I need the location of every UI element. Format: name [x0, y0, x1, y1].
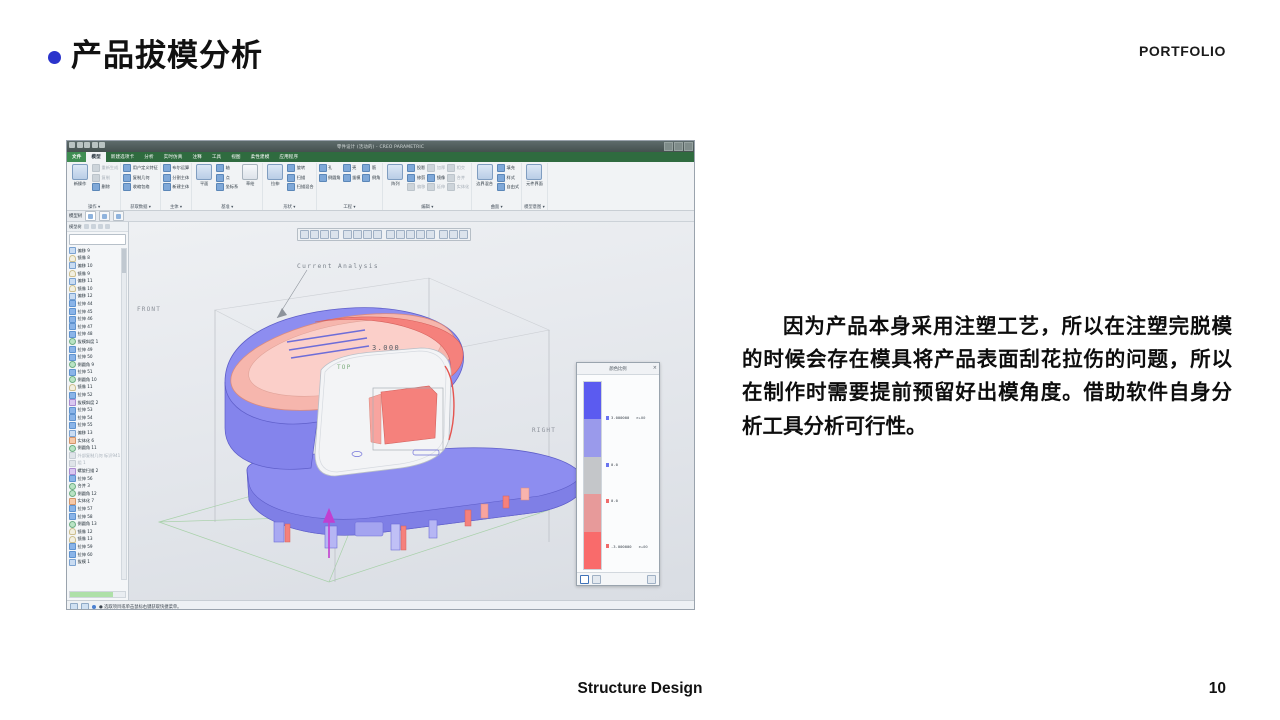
ribbon-item-icon [163, 183, 171, 191]
ribbon-item-icon [427, 164, 435, 172]
ribbon-item-icon [123, 174, 131, 182]
ribbon-group-6: 阵列投影修剪偏移加厚镜像延伸相交合并实体化编辑 ▾ [383, 163, 472, 210]
subbar-chip-2[interactable] [113, 211, 124, 221]
ribbon-item-icon [92, 174, 100, 182]
model-tree-panel-label: 模型树 [69, 213, 82, 219]
ribbon-item-label: 孔 [328, 165, 332, 171]
ribbon-button-边界混合[interactable]: 边界混合 [474, 164, 495, 187]
ribbon-item-icon [163, 164, 171, 172]
ribbon-item-加厚[interactable]: 加厚 [427, 164, 445, 172]
color-scale-tick-2[interactable]: 0.0 [606, 498, 625, 503]
viewport-float-toolbar[interactable] [297, 228, 471, 241]
ribbon-item-icon [497, 174, 505, 182]
ribbon-button-label: 草绘 [246, 181, 254, 187]
ribbon-tab-8[interactable]: 柔性建模 [246, 152, 275, 162]
tree-item[interactable]: 拉伸 55 [69, 422, 128, 430]
ribbon-item-投影[interactable]: 投影 [407, 164, 425, 172]
ribbon-item-icon [163, 174, 171, 182]
ribbon-item-label: 坐标系 [226, 184, 239, 190]
color-scale-tick-3[interactable]: -3.000000e+00 [606, 544, 648, 549]
tree-item-label: 拔模 1 [78, 559, 90, 565]
tick-value: 0.0 [611, 462, 618, 467]
tree-item-label: 倒圆角 13 [78, 521, 97, 527]
ribbon-item-icon [287, 164, 295, 172]
model-intent-icon [526, 164, 542, 180]
tree-item-label: 拉伸 44 [78, 301, 93, 307]
model-tree-subbar[interactable]: 模型树 [67, 211, 694, 222]
ribbon-item-icon [216, 174, 224, 182]
ribbon-item-实体化[interactable]: 实体化 [447, 183, 469, 191]
ribbon-item-壳[interactable]: 壳 [343, 164, 361, 172]
ribbon-item-label: 扫描 [297, 175, 305, 181]
tree-item[interactable]: 倒圆角 11 [69, 444, 128, 452]
tree-scrollbar[interactable] [121, 248, 127, 580]
color-scale-titlebar: 颜色比例 × [577, 363, 659, 375]
ribbon-item-icon [92, 164, 100, 172]
tree-item-label: 倒圆角 9 [78, 362, 95, 368]
tick-suffix: e+00 [636, 415, 645, 420]
tree-item-label: 螺旋扫描 2 [78, 468, 99, 474]
slide: 产品拔模分析 PORTFOLIO 因为产品本身采用注塑工艺，所以在注塑完脱模的时… [0, 0, 1280, 720]
ribbon-item-icon [407, 183, 415, 191]
zoom-in-icon[interactable] [300, 230, 309, 239]
tree-item[interactable]: 外部复制几何 标识941 [69, 452, 128, 460]
ribbon-group-0: 新操作重新生成复制删除操作 ▾ [68, 163, 121, 210]
datum-display-icon[interactable] [416, 230, 425, 239]
tree-item[interactable]: 倒圆角 9 [69, 361, 128, 369]
close-icon[interactable] [684, 142, 693, 151]
tree-item[interactable]: 拉伸 57 [69, 505, 128, 513]
ribbon-item-倒角[interactable]: 倒角 [362, 174, 380, 182]
ribbon-item-icon [287, 174, 295, 182]
ribbon-item-icon [427, 183, 435, 191]
tree-item-label: 拉伸 60 [78, 552, 93, 558]
ribbon-item-复制几何[interactable]: 复制几何 [123, 174, 158, 182]
ribbon-button-阵列[interactable]: 阵列 [385, 164, 405, 187]
feature-icon [69, 338, 76, 345]
tree-item[interactable]: 拉伸 48 [69, 331, 128, 339]
ribbon-tab-2[interactable]: 新建选项卡 [106, 152, 139, 162]
ribbon-item-icon [216, 183, 224, 191]
feature-icon [69, 354, 76, 361]
status-message: ● 选取项目或单击鼠标右键获取快捷菜单。 [99, 604, 181, 610]
ribbon-item-自由式[interactable]: 自由式 [497, 183, 519, 191]
tree-item-label: 偏移 9 [78, 248, 90, 254]
maximize-icon[interactable] [674, 142, 683, 151]
ribbon-item-偏移[interactable]: 偏移 [407, 183, 425, 191]
tree-item[interactable]: 拉伸 46 [69, 315, 128, 323]
ribbon-item-label: 复制几何 [133, 175, 150, 181]
ribbon-item-label: 延伸 [437, 184, 445, 190]
page-number: 10 [1209, 680, 1226, 698]
extrude-icon [267, 164, 283, 180]
ribbon-group-label[interactable]: 编辑 ▾ [385, 203, 469, 210]
tree-item[interactable]: 拉伸 60 [69, 551, 128, 559]
feature-icon [69, 247, 76, 254]
ribbon-item-布尔运算[interactable]: 布尔运算 [163, 164, 189, 172]
ribbon-item-分割主体[interactable]: 分割主体 [163, 174, 189, 182]
ribbon-item-相交[interactable]: 相交 [447, 164, 469, 172]
graphics-viewport[interactable]: Current Analysis FRONT TOP RIGHT 3.000 颜… [129, 222, 694, 600]
portfolio-label: PORTFOLIO [1139, 43, 1226, 59]
ribbon-tab-6[interactable]: 工具 [207, 152, 226, 162]
feature-icon [69, 422, 76, 429]
status-dot-icon [92, 605, 96, 609]
tree-item[interactable]: 组 1 [69, 460, 128, 468]
minimize-icon[interactable] [664, 142, 673, 151]
ribbon-tab-4[interactable]: 实时仿真 [159, 152, 188, 162]
status-select-icon[interactable] [70, 603, 78, 610]
quick-access-toolbar[interactable] [69, 142, 105, 148]
operations-icon [72, 164, 88, 180]
ribbon-group-1: 用户定义特征复制几何收缩包络获取数据 ▾ [121, 163, 161, 210]
feature-icon [69, 376, 76, 383]
toolbar-separator [383, 231, 385, 238]
ribbon-item-icon [343, 164, 351, 172]
feature-icon [69, 384, 76, 391]
tick-value: 3.000000 [611, 415, 629, 420]
tree-item-label: 拉伸 46 [78, 316, 93, 322]
feature-icon [69, 543, 76, 550]
ribbon-item-label: 删除 [102, 184, 110, 190]
ribbon-item-label: 壳 [352, 165, 356, 171]
ribbon-item-label: 用户定义特征 [133, 165, 158, 171]
feature-icon [69, 323, 76, 330]
ribbon-item-icon [92, 183, 100, 191]
status-filter-icon[interactable] [81, 603, 89, 610]
ribbon-button-新操作[interactable]: 新操作 [70, 164, 90, 187]
ribbon-tab-0[interactable]: 文件 [67, 152, 86, 162]
tree-item[interactable]: 拉伸 53 [69, 406, 128, 414]
ribbon-body[interactable]: 新操作重新生成复制删除操作 ▾用户定义特征复制几何收缩包络获取数据 ▾布尔运算分… [67, 162, 694, 211]
ribbon-item-延伸[interactable]: 延伸 [427, 183, 445, 191]
feature-icon [69, 255, 76, 262]
ribbon-item-用户定义特征[interactable]: 用户定义特征 [123, 164, 158, 172]
ribbon-button-草绘[interactable]: 草绘 [240, 164, 260, 187]
ribbon-item-icon [447, 174, 455, 182]
ribbon-group-label[interactable]: 操作 ▾ [70, 203, 118, 210]
tree-item-label: 镜像 9 [78, 271, 90, 277]
tree-item-label: 偏移 12 [78, 293, 93, 299]
feature-icon [69, 293, 76, 300]
ribbon-item-旋转[interactable]: 旋转 [287, 164, 313, 172]
tree-item[interactable]: 偏移 10 [69, 262, 128, 270]
ribbon-button-label: 边界混合 [476, 181, 493, 187]
tree-item-label: 合并 3 [78, 483, 90, 489]
repaint-icon[interactable] [343, 230, 352, 239]
ribbon-item-label: 点 [226, 175, 230, 181]
ribbon-item-label: 偏移 [417, 184, 425, 190]
subbar-chip-1[interactable] [99, 211, 110, 221]
tree-settings-icon[interactable] [98, 224, 103, 229]
tree-item[interactable]: 偏移 9 [69, 247, 128, 255]
tree-item-label: 偏移 10 [78, 263, 93, 269]
open-icon[interactable] [77, 142, 83, 148]
ribbon-button-平面[interactable]: 平面 [194, 164, 214, 187]
ribbon-item-点[interactable]: 点 [216, 174, 238, 182]
annotation-display-icon[interactable] [426, 230, 435, 239]
tree-item-label: 镜像 8 [78, 255, 90, 261]
feature-icon [69, 331, 76, 338]
ribbon-item-镜像[interactable]: 镜像 [427, 174, 445, 182]
ribbon-group-label[interactable]: 获取数据 ▾ [123, 203, 158, 210]
ribbon-group-label[interactable]: 工程 ▾ [319, 203, 381, 210]
ribbon-button-元件界面[interactable]: 元件界面 [524, 164, 545, 187]
feature-icon [69, 430, 76, 437]
ribbon-item-轴[interactable]: 轴 [216, 164, 238, 172]
wireframe-icon[interactable] [353, 230, 362, 239]
refit-icon[interactable] [320, 230, 329, 239]
feature-icon [69, 521, 76, 528]
shading-icon[interactable] [373, 230, 382, 239]
ribbon-item-复制[interactable]: 复制 [92, 174, 118, 182]
subbar-chip-0[interactable] [85, 211, 96, 221]
datum-plane-icon [196, 164, 212, 180]
body-paragraph: 因为产品本身采用注塑工艺，所以在注塑完脱模的时候会存在模具将产品表面刮花拉伤的问… [742, 310, 1232, 443]
color-scale-body: 3.000000e+000.00.0-3.000000e+00 [577, 375, 659, 572]
ribbon-item-重新生成[interactable]: 重新生成 [92, 164, 118, 172]
ribbon-group-label[interactable]: 模型意图 ▾ [524, 203, 545, 210]
feature-icon [69, 278, 76, 285]
feature-icon [69, 361, 76, 368]
feature-icon [69, 551, 76, 558]
tick-marker-icon [606, 544, 609, 548]
ribbon-item-扫描[interactable]: 扫描 [287, 174, 313, 182]
ribbon-item-label: 加厚 [437, 165, 445, 171]
tree-item-label: 拔模斜度 1 [78, 339, 99, 345]
ribbon-item-修剪[interactable]: 修剪 [407, 174, 425, 182]
feature-icon [69, 399, 76, 406]
model-tree-header: 模型树 [69, 224, 82, 230]
undo-icon[interactable] [92, 142, 98, 148]
ribbon-tab-1[interactable]: 模型 [86, 152, 105, 162]
title-bullet-icon [48, 51, 61, 64]
ribbon-item-icon [447, 183, 455, 191]
tree-item[interactable]: 拉伸 59 [69, 543, 128, 551]
saved-view-icon[interactable] [406, 230, 415, 239]
ribbon-button-拉伸[interactable]: 拉伸 [265, 164, 285, 187]
tree-item[interactable]: 实体化 6 [69, 437, 128, 445]
ribbon-item-label: 收缩包络 [133, 184, 150, 190]
hidden-line-icon[interactable] [363, 230, 372, 239]
ribbon-item-筋[interactable]: 筋 [362, 164, 380, 172]
feature-icon [69, 392, 76, 399]
tree-item[interactable]: 拉伸 52 [69, 391, 128, 399]
tree-item-label: 拉伸 50 [78, 354, 93, 360]
cad-window-title: 零件设计 (活动的) - CREO PARAMETRIC [337, 144, 424, 150]
feature-icon [69, 308, 76, 315]
tree-item-label: 倒圆角 10 [78, 377, 97, 383]
feature-icon [69, 483, 76, 490]
tree-item[interactable]: 倒圆角 13 [69, 520, 128, 528]
tree-item-label: 镜像 12 [78, 529, 93, 535]
ribbon-group-5: 孔倒圆角壳拔模筋倒角工程 ▾ [317, 163, 384, 210]
color-scale-band-0 [584, 382, 601, 419]
ribbon-tab-bar[interactable]: 文件模型新建选项卡分析实时仿真注释工具视图柔性建模应用程序 [67, 152, 694, 162]
model-tree-list[interactable]: 偏移 9镜像 8偏移 10镜像 9偏移 11镜像 10偏移 12拉伸 44拉伸 … [67, 246, 128, 590]
color-scale-title: 颜色比例 [609, 366, 626, 372]
tree-item-label: 外部复制几何 标识941 [78, 453, 121, 459]
window-controls[interactable] [664, 142, 693, 151]
zoom-area-icon[interactable] [330, 230, 339, 239]
ribbon-item-样式[interactable]: 样式 [497, 174, 519, 182]
feature-icon [69, 437, 76, 444]
ribbon-group-label[interactable]: 曲面 ▾ [474, 203, 519, 210]
ribbon-item-label: 镜像 [437, 175, 445, 181]
ribbon-item-label: 样式 [507, 175, 515, 181]
ribbon-group-4: 拉伸旋转扫描扫描混合形状 ▾ [263, 163, 316, 210]
ribbon-item-icon [427, 174, 435, 182]
ribbon-item-icon [123, 183, 131, 191]
ribbon-group-label[interactable]: 基准 ▾ [194, 203, 260, 210]
tree-item-label: 拉伸 48 [78, 331, 93, 337]
ribbon-item-扫描混合[interactable]: 扫描混合 [287, 183, 313, 191]
tick-marker-icon [606, 463, 609, 467]
tree-item[interactable]: 螺旋扫描 2 [69, 467, 128, 475]
ribbon-item-拔模[interactable]: 拔模 [343, 174, 361, 182]
tree-item[interactable]: 拔模斜度 2 [69, 399, 128, 407]
tree-horizontal-scrollbar[interactable] [69, 591, 126, 598]
tree-item[interactable]: 镜像 10 [69, 285, 128, 293]
zoom-out-icon[interactable] [310, 230, 319, 239]
feature-icon [69, 460, 76, 467]
tree-item[interactable]: 拉伸 47 [69, 323, 128, 331]
tree-item-label: 组 1 [78, 460, 86, 466]
color-scale-tick-0[interactable]: 3.000000e+00 [606, 415, 645, 420]
feature-icon [69, 414, 76, 421]
tree-item[interactable]: 偏移 13 [69, 429, 128, 437]
model-tree-toolbar[interactable]: 模型树 [67, 222, 128, 232]
datum-front-label: FRONT [137, 306, 161, 313]
ribbon-button-label: 阵列 [391, 181, 399, 187]
tree-item[interactable]: 合并 3 [69, 482, 128, 490]
redo-icon[interactable] [99, 142, 105, 148]
tree-item[interactable]: 拉伸 54 [69, 414, 128, 422]
tree-item[interactable]: 拉伸 58 [69, 513, 128, 521]
ribbon-item-icon [362, 174, 370, 182]
color-scale-bar[interactable] [583, 381, 602, 570]
tree-item[interactable]: 拔模 1 [69, 558, 128, 566]
tick-value: 0.0 [611, 498, 618, 503]
ribbon-item-收缩包络[interactable]: 收缩包络 [123, 183, 158, 191]
ribbon-item-label: 筋 [372, 165, 376, 171]
ribbon-item-icon [497, 164, 505, 172]
spin-center-icon[interactable] [439, 230, 448, 239]
stop-icon[interactable] [459, 230, 468, 239]
tree-item[interactable]: 偏移 11 [69, 277, 128, 285]
pause-icon[interactable] [449, 230, 458, 239]
new-icon[interactable] [69, 142, 75, 148]
ribbon-tab-3[interactable]: 分析 [139, 152, 158, 162]
tree-item[interactable]: 拉伸 44 [69, 300, 128, 308]
tree-item[interactable]: 拔模斜度 1 [69, 338, 128, 346]
tree-item[interactable]: 镜像 12 [69, 528, 128, 536]
color-scale-band-2 [584, 457, 601, 494]
ribbon-tab-9[interactable]: 应用程序 [274, 152, 303, 162]
color-scale-footer[interactable] [577, 572, 659, 585]
ribbon-group-label[interactable]: 形状 ▾ [265, 203, 313, 210]
tree-item[interactable]: 拉伸 56 [69, 475, 128, 483]
ribbon-item-label: 填充 [507, 165, 515, 171]
ribbon-item-label: 复制 [102, 175, 110, 181]
ribbon-item-坐标系[interactable]: 坐标系 [216, 183, 238, 191]
color-scale-tick-1[interactable]: 0.0 [606, 462, 625, 467]
tree-item[interactable]: 拉伸 45 [69, 308, 128, 316]
ribbon-item-label: 倒角 [372, 175, 380, 181]
ribbon-item-倒圆角[interactable]: 倒圆角 [319, 174, 341, 182]
perspective-icon[interactable] [396, 230, 405, 239]
color-scale-dialog[interactable]: 颜色比例 × 3.000000e+000.00.0-3.000000e+00 [576, 362, 660, 586]
tree-item[interactable]: 偏移 12 [69, 293, 128, 301]
close-icon[interactable]: × [653, 365, 657, 371]
tree-item-label: 实体化 7 [78, 498, 95, 504]
draft-value-label: 3.000 [372, 344, 400, 352]
model-tree-panel[interactable]: 模型树 偏移 9镜像 8偏移 10镜像 9偏移 11镜像 10偏移 12拉伸 4… [67, 222, 129, 600]
feature-icon [69, 407, 76, 414]
feature-icon [69, 559, 76, 566]
tree-item[interactable]: 镜像 11 [69, 384, 128, 392]
ribbon-group-label[interactable]: 主体 ▾ [163, 203, 189, 210]
ribbon-button-label: 新操作 [74, 181, 87, 187]
ribbon-item-填充[interactable]: 填充 [497, 164, 519, 172]
ribbon-item-label: 轴 [226, 165, 230, 171]
ribbon-item-label: 修剪 [417, 175, 425, 181]
sketch-icon [242, 164, 258, 180]
appearance-icon[interactable] [386, 230, 395, 239]
tree-item[interactable]: 实体化 7 [69, 498, 128, 506]
ribbon-item-label: 合并 [457, 175, 465, 181]
ribbon-item-删除[interactable]: 删除 [92, 183, 118, 191]
ribbon-item-合并[interactable]: 合并 [447, 174, 469, 182]
ribbon-item-icon [497, 183, 505, 191]
tree-item[interactable]: 拉伸 49 [69, 346, 128, 354]
model-tree-search-input[interactable] [69, 234, 126, 245]
tree-item[interactable]: 镜像 13 [69, 536, 128, 544]
ribbon-item-新建主体[interactable]: 新建主体 [163, 183, 189, 191]
tree-item[interactable]: 拉伸 51 [69, 369, 128, 377]
tree-item[interactable]: 镜像 9 [69, 270, 128, 278]
ribbon-item-label: 旋转 [297, 165, 305, 171]
reverse-scale-icon[interactable] [592, 575, 601, 584]
feature-icon [69, 536, 76, 543]
feature-icon [69, 270, 76, 277]
color-scale-icon[interactable] [580, 575, 589, 584]
current-analysis-label: Current Analysis [297, 263, 379, 270]
tree-item-label: 偏移 11 [78, 278, 93, 284]
ribbon-item-孔[interactable]: 孔 [319, 164, 341, 172]
tree-item-label: 拉伸 58 [78, 514, 93, 520]
tree-chevron-down-icon[interactable] [91, 224, 96, 229]
pattern-icon [387, 164, 403, 180]
ribbon-item-label: 倒圆角 [328, 175, 341, 181]
ribbon-tab-7[interactable]: 视图 [226, 152, 245, 162]
ribbon-item-icon [407, 174, 415, 182]
tree-more-icon[interactable] [105, 224, 110, 229]
tree-item[interactable]: 镜像 8 [69, 255, 128, 263]
ribbon-tab-5[interactable]: 注释 [187, 152, 206, 162]
tree-item[interactable]: 倒圆角 10 [69, 376, 128, 384]
tree-item[interactable]: 拉伸 50 [69, 353, 128, 361]
tree-filter-icon[interactable] [84, 224, 89, 229]
save-icon[interactable] [84, 142, 90, 148]
ribbon-item-label: 相交 [457, 165, 465, 171]
expand-icon[interactable] [647, 575, 656, 584]
tree-item-label: 偏移 13 [78, 430, 93, 436]
tree-item-label: 拉伸 52 [78, 392, 93, 398]
cad-titlebar: 零件设计 (活动的) - CREO PARAMETRIC [67, 141, 694, 152]
feature-icon [69, 468, 76, 475]
tree-item[interactable]: 倒圆角 12 [69, 490, 128, 498]
